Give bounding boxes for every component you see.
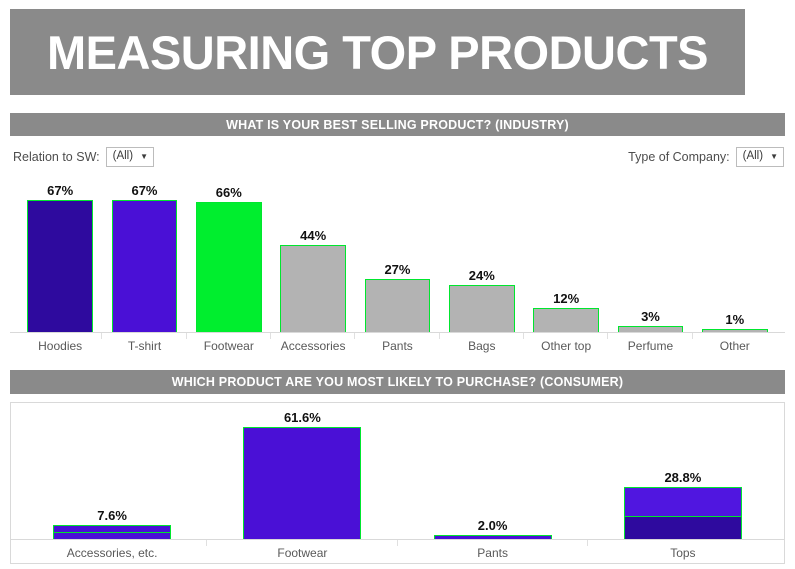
axis-category-label: Bags xyxy=(440,333,524,353)
bar[interactable] xyxy=(365,279,431,332)
bar-column[interactable]: 27% xyxy=(355,176,439,332)
filter-relation-to-sw-value: (All) xyxy=(113,151,133,163)
axis-category-label: Perfume xyxy=(608,333,692,353)
dashboard-title-banner: MEASURING TOP PRODUCTS xyxy=(10,9,745,95)
filter-type-of-company: Type of Company: (All) ▼ xyxy=(628,144,784,170)
chart-industry-axis-labels: HoodiesT-shirtFootwearAccessoriesPantsBa… xyxy=(10,333,785,353)
axis-category-label: Pants xyxy=(398,540,588,560)
bar[interactable] xyxy=(112,200,178,332)
axis-category-label: Footwear xyxy=(207,540,397,560)
bar-value-label: 66% xyxy=(216,186,242,199)
bar-value-label: 7.6% xyxy=(97,509,127,522)
chart-consumer: 7.6%61.6%2.0%28.8% Accessories, etc.Foot… xyxy=(10,402,785,564)
page-title: MEASURING TOP PRODUCTS xyxy=(47,29,708,76)
bar-value-label: 24% xyxy=(469,269,495,282)
filter-row: Relation to SW: (All) ▼ Type of Company:… xyxy=(0,144,795,170)
bar-column[interactable]: 66% xyxy=(187,176,271,332)
bar-value-label: 3% xyxy=(641,310,660,323)
bar[interactable] xyxy=(243,427,361,539)
bar-value-label: 2.0% xyxy=(478,519,508,532)
filter-type-of-company-dropdown[interactable]: (All) ▼ xyxy=(736,147,784,167)
bar-column[interactable]: 61.6% xyxy=(207,403,397,539)
bar-column[interactable]: 67% xyxy=(18,176,102,332)
chart-industry: 67%67%66%44%27%24%12%3%1% HoodiesT-shirt… xyxy=(10,176,785,356)
chevron-down-icon: ▼ xyxy=(140,153,148,161)
bar-column[interactable]: 44% xyxy=(271,176,355,332)
bar-segment[interactable] xyxy=(624,516,742,539)
section-header-consumer: WHICH PRODUCT ARE YOU MOST LIKELY TO PUR… xyxy=(10,370,785,394)
filter-type-of-company-value: (All) xyxy=(743,151,763,163)
chart-consumer-plot-area: 7.6%61.6%2.0%28.8% xyxy=(11,403,784,539)
bar-column[interactable]: 2.0% xyxy=(398,403,588,539)
bar-column[interactable]: 28.8% xyxy=(588,403,778,539)
axis-category-label: T-shirt xyxy=(102,333,186,353)
bar-column[interactable]: 3% xyxy=(608,176,692,332)
bar-segment[interactable] xyxy=(624,487,742,516)
axis-category-label: Footwear xyxy=(187,333,271,353)
bar-segment[interactable] xyxy=(53,532,171,539)
bar-column[interactable]: 7.6% xyxy=(17,403,207,539)
section-header-industry: WHAT IS YOUR BEST SELLING PRODUCT? (INDU… xyxy=(10,113,785,136)
bar[interactable] xyxy=(533,308,599,332)
chart-industry-plot-area: 67%67%66%44%27%24%12%3%1% xyxy=(10,176,785,332)
bar-value-label: 28.8% xyxy=(664,471,701,484)
axis-category-label: Accessories xyxy=(271,333,355,353)
filter-relation-to-sw-label: Relation to SW: xyxy=(13,150,100,164)
bar-value-label: 1% xyxy=(725,313,744,326)
section-header-industry-label: WHAT IS YOUR BEST SELLING PRODUCT? (INDU… xyxy=(226,118,569,132)
bar-value-label: 61.6% xyxy=(284,411,321,424)
bar-column[interactable]: 24% xyxy=(440,176,524,332)
bar[interactable] xyxy=(53,525,171,539)
bar[interactable] xyxy=(624,487,742,539)
axis-category-label: Hoodies xyxy=(18,333,102,353)
axis-category-label: Pants xyxy=(355,333,439,353)
filter-relation-to-sw: Relation to SW: (All) ▼ xyxy=(13,144,154,170)
bar[interactable] xyxy=(449,285,515,332)
bar-value-label: 67% xyxy=(47,184,73,197)
chevron-down-icon: ▼ xyxy=(770,153,778,161)
bar-value-label: 44% xyxy=(300,229,326,242)
bar-column[interactable]: 1% xyxy=(693,176,777,332)
bar-column[interactable]: 67% xyxy=(102,176,186,332)
bar-value-label: 27% xyxy=(384,263,410,276)
filter-relation-to-sw-dropdown[interactable]: (All) ▼ xyxy=(106,147,154,167)
filter-type-of-company-label: Type of Company: xyxy=(628,150,729,164)
bar[interactable] xyxy=(196,202,262,332)
section-header-consumer-label: WHICH PRODUCT ARE YOU MOST LIKELY TO PUR… xyxy=(172,375,623,389)
axis-category-label: Other xyxy=(693,333,777,353)
axis-category-label: Accessories, etc. xyxy=(17,540,207,560)
bar[interactable] xyxy=(280,245,346,332)
bar-value-label: 67% xyxy=(131,184,157,197)
axis-category-label: Other top xyxy=(524,333,608,353)
bar-column[interactable]: 12% xyxy=(524,176,608,332)
bar[interactable] xyxy=(27,200,93,332)
bar-value-label: 12% xyxy=(553,292,579,305)
bar-segment[interactable] xyxy=(53,525,171,532)
axis-category-label: Tops xyxy=(588,540,778,560)
chart-consumer-axis-labels: Accessories, etc.FootwearPantsTops xyxy=(11,540,784,560)
